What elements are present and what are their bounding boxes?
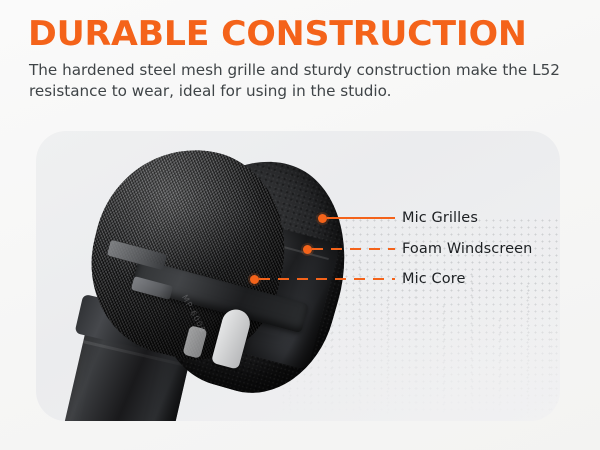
callout-anchor-dot [303, 245, 312, 254]
callout-anchor-dot [318, 214, 327, 223]
callout-foam-windscreen[interactable]: Foam Windscreen [303, 241, 532, 257]
product-feature-slide: DURABLE CONSTRUCTION The hardened steel … [0, 0, 600, 450]
callout-label: Mic Grilles [402, 210, 478, 226]
callout-mic-grilles[interactable]: Mic Grilles [318, 210, 478, 226]
callout-mic-core[interactable]: Mic Core [250, 271, 465, 287]
callout-anchor-dot [250, 275, 259, 284]
subtitle-line-2: resistance to wear, ideal for using in t… [29, 81, 569, 102]
page-title: DURABLE CONSTRUCTION [28, 14, 527, 54]
page-subtitle: The hardened steel mesh grille and sturd… [29, 60, 569, 102]
callout-label: Mic Core [402, 271, 465, 287]
subtitle-line-1: The hardened steel mesh grille and sturd… [29, 60, 569, 81]
callout-leader-line [327, 217, 395, 220]
callout-label: Foam Windscreen [402, 241, 532, 257]
callout-leader-line [312, 248, 395, 251]
callout-leader-line [259, 278, 395, 281]
